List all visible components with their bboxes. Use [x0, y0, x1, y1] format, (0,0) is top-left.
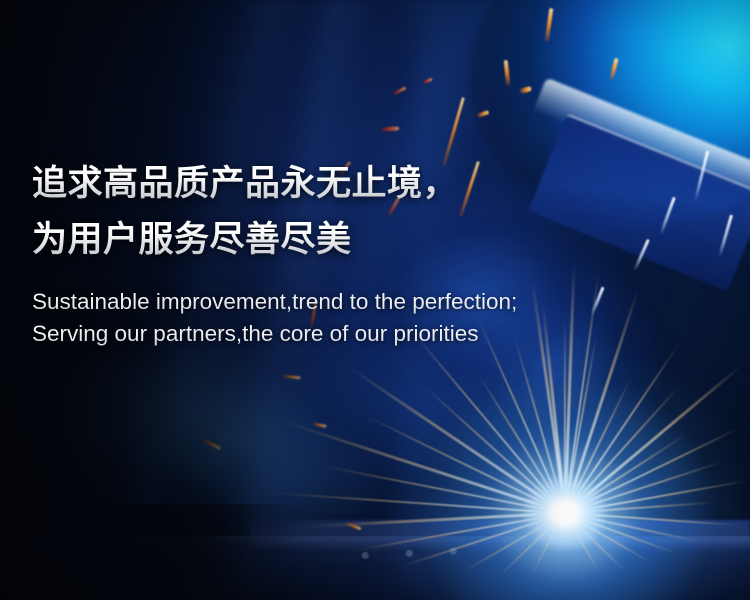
headline-line-2: 为用户服务尽善尽美: [32, 212, 722, 268]
subheadline-line-1: Sustainable improvement,trend to the per…: [32, 286, 722, 318]
welding-hero-banner: 追求高品质产品永无止境， 为用户服务尽善尽美 Sustainable impro…: [0, 0, 750, 600]
slogan-copy-block: 追求高品质产品永无止境， 为用户服务尽善尽美 Sustainable impro…: [32, 156, 722, 350]
headline-line-1: 追求高品质产品永无止境，: [32, 156, 722, 212]
subheadline-line-2: Serving our partners,the core of our pri…: [32, 318, 722, 350]
